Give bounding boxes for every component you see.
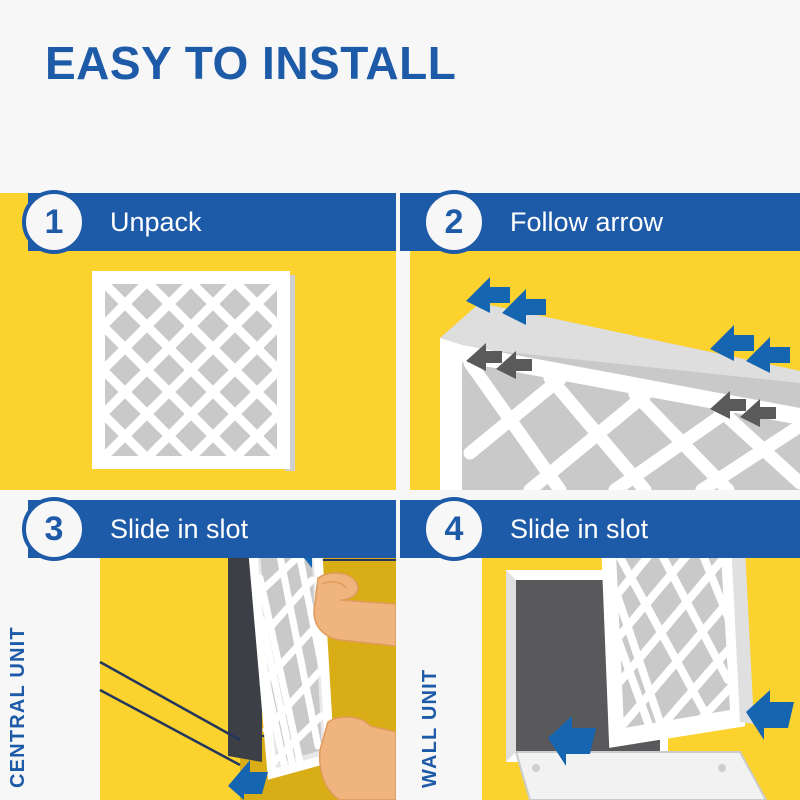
step-3-label: Slide in slot: [110, 514, 248, 545]
step-4-number-badge: 4: [422, 497, 486, 561]
step-4-label: Slide in slot: [510, 514, 648, 545]
step-2-label: Follow arrow: [510, 207, 663, 238]
step-1-label: Unpack: [110, 207, 202, 238]
step-3-number-badge: 3: [22, 497, 86, 561]
step-2-number-badge: 2: [422, 190, 486, 254]
central-unit-caption: CENTRAL UNIT: [7, 626, 30, 788]
step-1-number-badge: 1: [22, 190, 86, 254]
wall-unit-caption: WALL UNIT: [419, 669, 442, 788]
hand-lower: [320, 717, 396, 800]
page-title: EASY TO INSTALL: [45, 36, 456, 90]
easy-to-install-infographic: EASY TO INSTALL: [0, 0, 800, 800]
